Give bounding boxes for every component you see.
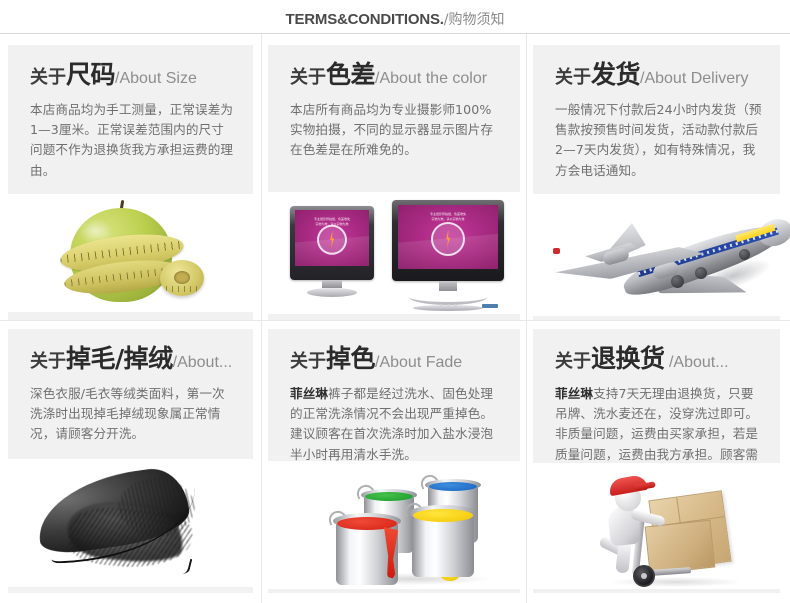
cell-panel: 关于色差/About the color 本店所有商品均为专业摄影师100%实物…	[268, 45, 520, 320]
cell-about-shedding: 关于掉毛/掉绒/About... 深色衣服/毛衣等绒类面料，第一次洗涤时出现掉毛…	[0, 321, 262, 603]
title-english: /About...	[173, 354, 233, 371]
page-title-cn: /购物须知	[444, 12, 505, 28]
airplane-nose-gear	[739, 249, 750, 260]
title-english: /About the color	[375, 70, 487, 87]
monitor-lcd-wide: 专业摄影师拍摄，色差难免 实物为准，请以实物为准	[392, 200, 504, 311]
cell-body: 本店商品均为手工测量，正常误差为1—3厘米。正常误差范围内的尺寸问题不作为退换货…	[30, 100, 235, 182]
measuring-tape-roll	[160, 260, 204, 296]
cell-body: 深色衣服/毛衣等绒类面料，第一次洗涤时出现掉毛掉绒现象属正常情况，请顾客分开洗。	[30, 384, 235, 445]
cell-about-delivery: 关于发货/About Delivery 一般情况下付款后24小时内发货（预售款按…	[527, 34, 790, 321]
brand-circle-logo	[431, 222, 465, 256]
airplane-landing-gear-1	[671, 275, 684, 288]
apple-illustration	[48, 200, 208, 308]
cell-about-size: 关于尺码/About Size 本店商品均为手工测量，正常误差为1—3厘米。正常…	[0, 34, 262, 321]
cell-panel: 关于掉毛/掉绒/About... 深色衣服/毛衣等绒类面料，第一次洗涤时出现掉毛…	[8, 329, 253, 593]
monitor-bezel: 专业摄影师拍摄，色差难免 实物为准，请以实物为准	[392, 200, 504, 281]
monitor-screen: 专业摄影师拍摄，色差难免 实物为准，请以实物为准	[398, 205, 498, 269]
cell-title: 关于掉色/About Fade	[290, 345, 502, 373]
title-prefix: 关于	[290, 351, 326, 372]
apple-measuring-tape-image	[8, 194, 253, 312]
title-english: /About Fade	[375, 354, 462, 371]
page-header: TERMS&CONDITIONS./购物须知	[0, 0, 790, 34]
brand-name: 菲丝琳	[290, 386, 328, 401]
title-main: 尺码	[66, 60, 115, 89]
page-title: TERMS&CONDITIONS./购物须知	[0, 9, 790, 29]
cell-text-block: 关于色差/About the color 本店所有商品均为专业摄影师100%实物…	[268, 45, 520, 161]
monitor-crt-small: 专业摄影师拍摄，色差难免 实物为准，请以实物为准	[290, 206, 374, 297]
cell-title: 关于发货/About Delivery	[555, 61, 762, 89]
paint-cans-illustration	[324, 469, 494, 587]
brand-name: 菲丝琳	[555, 386, 593, 401]
cell-text-block: 关于掉毛/掉绒/About... 深色衣服/毛衣等绒类面料，第一次洗涤时出现掉毛…	[8, 329, 253, 445]
title-prefix: 关于	[555, 351, 591, 372]
title-prefix: 关于	[555, 67, 591, 88]
cell-text-block: 关于掉色/About Fade 菲丝琳裤子都是经过洗水、固色处理的正常洗涤情况不…	[268, 329, 520, 465]
cell-title: 关于尺码/About Size	[30, 61, 235, 89]
airplane-image	[533, 194, 780, 316]
title-main: 掉毛/掉绒	[66, 344, 173, 373]
title-prefix: 关于	[30, 67, 66, 88]
title-prefix: 关于	[290, 67, 326, 88]
monitor-screen: 专业摄影师拍摄，色差难免 实物为准，请以实物为准	[295, 210, 369, 266]
cell-body: 菲丝琳裤子都是经过洗水、固色处理的正常洗涤情况不会出现严重掉色。建议顾客在首次洗…	[290, 384, 502, 466]
title-main: 色差	[326, 60, 375, 89]
cell-title: 关于掉毛/掉绒/About...	[30, 345, 235, 373]
title-main: 掉色	[326, 344, 375, 373]
handtruck-wheel	[633, 565, 655, 587]
monitor-neck	[322, 280, 342, 288]
cell-title: 关于退换货 /About...	[555, 345, 762, 373]
delivery-shadow	[611, 577, 741, 587]
paint-cans-image	[268, 461, 520, 589]
terms-grid: 关于尺码/About Size 本店商品均为手工测量，正常误差为1—3厘米。正常…	[0, 34, 790, 603]
cell-about-color: 关于色差/About the color 本店所有商品均为专业摄影师100%实物…	[262, 34, 527, 321]
paint-can-yellow	[412, 513, 474, 577]
two-monitors-image: 专业摄影师拍摄，色差难免 实物为准，请以实物为准	[268, 192, 520, 314]
can-paint-surface	[413, 509, 473, 522]
title-main: 退换货	[591, 344, 665, 373]
airplane-illustration	[545, 202, 783, 308]
monitor-screen-caption: 专业摄影师拍摄，色差难免 实物为准，请以实物为准	[398, 212, 498, 222]
brand-circle-logo	[317, 225, 347, 255]
airplane-landing-gear-2	[695, 267, 707, 279]
title-english: /About Size	[115, 70, 197, 87]
feather-illustration	[28, 466, 218, 584]
cell-title: 关于色差/About the color	[290, 61, 502, 89]
cell-panel: 关于掉色/About Fade 菲丝琳裤子都是经过洗水、固色处理的正常洗涤情况不…	[268, 329, 520, 593]
can-paint-surface	[365, 492, 413, 501]
black-feather-image	[8, 459, 253, 587]
delivery-illustration	[591, 469, 751, 587]
title-main: 发货	[591, 60, 640, 89]
cell-about-returns: 关于退换货 /About... 菲丝琳支持7天无理由退换货，只要吊牌、洗水麦还在…	[527, 321, 790, 603]
can-paint-surface	[429, 482, 477, 491]
delivery-handtruck-image	[533, 463, 780, 589]
cell-panel: 关于发货/About Delivery 一般情况下付款后24小时内发货（预售款按…	[533, 45, 780, 320]
cell-panel: 关于尺码/About Size 本店商品均为手工测量，正常误差为1—3厘米。正常…	[8, 45, 253, 320]
monitor-base	[307, 288, 357, 297]
title-prefix: 关于	[30, 351, 66, 372]
cell-about-fade: 关于掉色/About Fade 菲丝琳裤子都是经过洗水、固色处理的正常洗涤情况不…	[262, 321, 527, 603]
cell-body: 本店所有商品均为专业摄影师100%实物拍摄，不同的显示器显示图片存在色差是在所难…	[290, 100, 502, 161]
feather-quill-tip	[173, 555, 192, 574]
cell-text-block: 关于发货/About Delivery 一般情况下付款后24小时内发货（预售款按…	[533, 45, 780, 181]
title-english: /About Delivery	[640, 70, 749, 87]
monitor-bezel: 专业摄影师拍摄，色差难免 实物为准，请以实物为准	[290, 206, 374, 280]
airplane-wingtip-light	[553, 248, 560, 254]
cell-body: 一般情况下付款后24小时内发货（预售款按预售时间发货，活动款付款后2—7天内发货…	[555, 100, 762, 182]
red-cap-icon	[608, 474, 648, 496]
title-english: /About...	[665, 354, 729, 371]
page-title-en: TERMS&CONDITIONS.	[286, 11, 444, 28]
monitor-brand-badge	[482, 304, 498, 308]
cell-panel: 关于退换货 /About... 菲丝琳支持7天无理由退换货，只要吊牌、洗水麦还在…	[533, 329, 780, 593]
cardboard-box-lower	[645, 520, 716, 575]
cell-text-block: 关于尺码/About Size 本店商品均为手工测量，正常误差为1—3厘米。正常…	[8, 45, 253, 181]
